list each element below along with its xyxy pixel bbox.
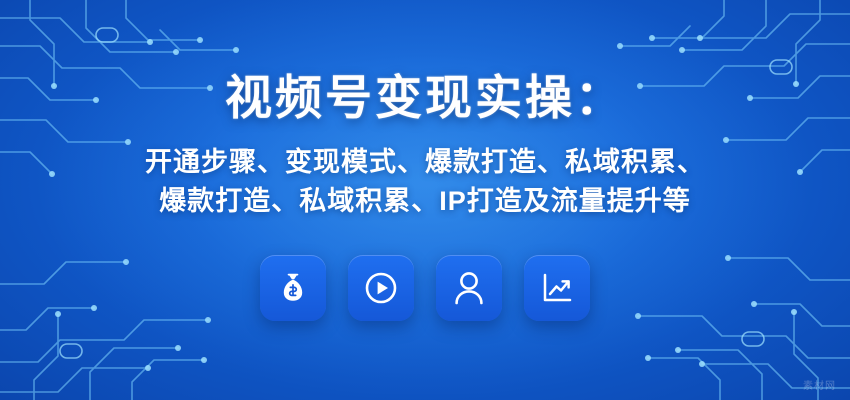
page-title: 视频号变现实操：	[225, 72, 625, 125]
user-person-icon-tile[interactable]	[436, 255, 502, 321]
promo-poster: 视频号变现实操： 开通步骤、变现模式、爆款打造、私域积累、 爆款打造、私域积累、…	[0, 0, 850, 400]
money-bag-icon-tile[interactable]	[260, 255, 326, 321]
growth-chart-icon	[539, 270, 575, 306]
play-button-icon-tile[interactable]	[348, 255, 414, 321]
feature-icon-row	[260, 255, 590, 321]
subtitle-line-1: 开通步骤、变现模式、爆款打造、私域积累、	[145, 143, 705, 182]
play-button-icon	[362, 269, 400, 307]
growth-chart-icon-tile[interactable]	[524, 255, 590, 321]
user-person-icon	[452, 270, 486, 306]
money-bag-icon	[275, 270, 311, 306]
subtitle-line-2: 爆款打造、私域积累、IP打造及流量提升等	[145, 182, 705, 221]
watermark: 素材网	[803, 377, 836, 392]
